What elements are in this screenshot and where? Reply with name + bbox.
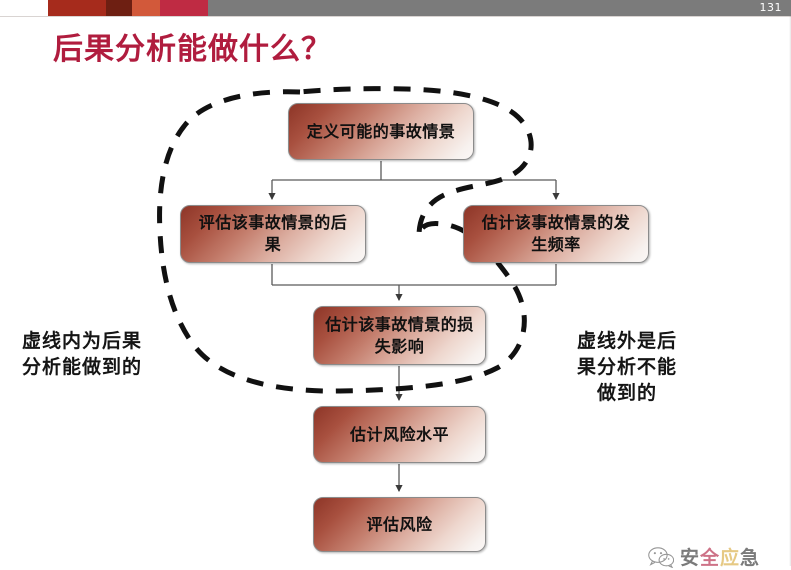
annotation-inside-dashed: 虚线内为后果 分析能做到的 [22, 328, 202, 380]
flow-node-estimate-loss-impact[interactable]: 估计该事故情景的损失影响 [313, 306, 486, 365]
annotation-line: 分析能做到的 [22, 354, 202, 380]
flow-node-label: 定义可能的事故情景 [299, 121, 463, 143]
slide-canvas: 131 后果分析能做什么？ [0, 0, 791, 566]
flow-node-label: 估计该事故情景的发生频率 [474, 212, 638, 256]
flow-node-evaluate-risk[interactable]: 评估风险 [313, 497, 486, 552]
annotation-line: 虚线内为后果 [22, 328, 202, 354]
flow-connectors [0, 0, 791, 566]
flow-node-label: 估计风险水平 [324, 424, 475, 446]
flow-node-label: 评估风险 [324, 514, 475, 536]
flow-node-label: 估计该事故情景的损失影响 [324, 314, 475, 358]
flow-node-define-scenarios[interactable]: 定义可能的事故情景 [288, 103, 474, 160]
annotation-line: 做到的 [552, 380, 702, 406]
wechat-icon [648, 546, 674, 568]
flow-node-estimate-frequency[interactable]: 估计该事故情景的发生频率 [463, 205, 649, 263]
flow-node-label: 评估该事故情景的后果 [191, 212, 355, 256]
annotation-line: 果分析不能 [552, 354, 702, 380]
flow-node-estimate-risk-level[interactable]: 估计风险水平 [313, 406, 486, 463]
annotation-line: 虚线外是后 [552, 328, 702, 354]
annotation-outside-dashed: 虚线外是后 果分析不能 做到的 [552, 328, 702, 406]
flow-node-assess-consequences[interactable]: 评估该事故情景的后果 [180, 205, 366, 263]
